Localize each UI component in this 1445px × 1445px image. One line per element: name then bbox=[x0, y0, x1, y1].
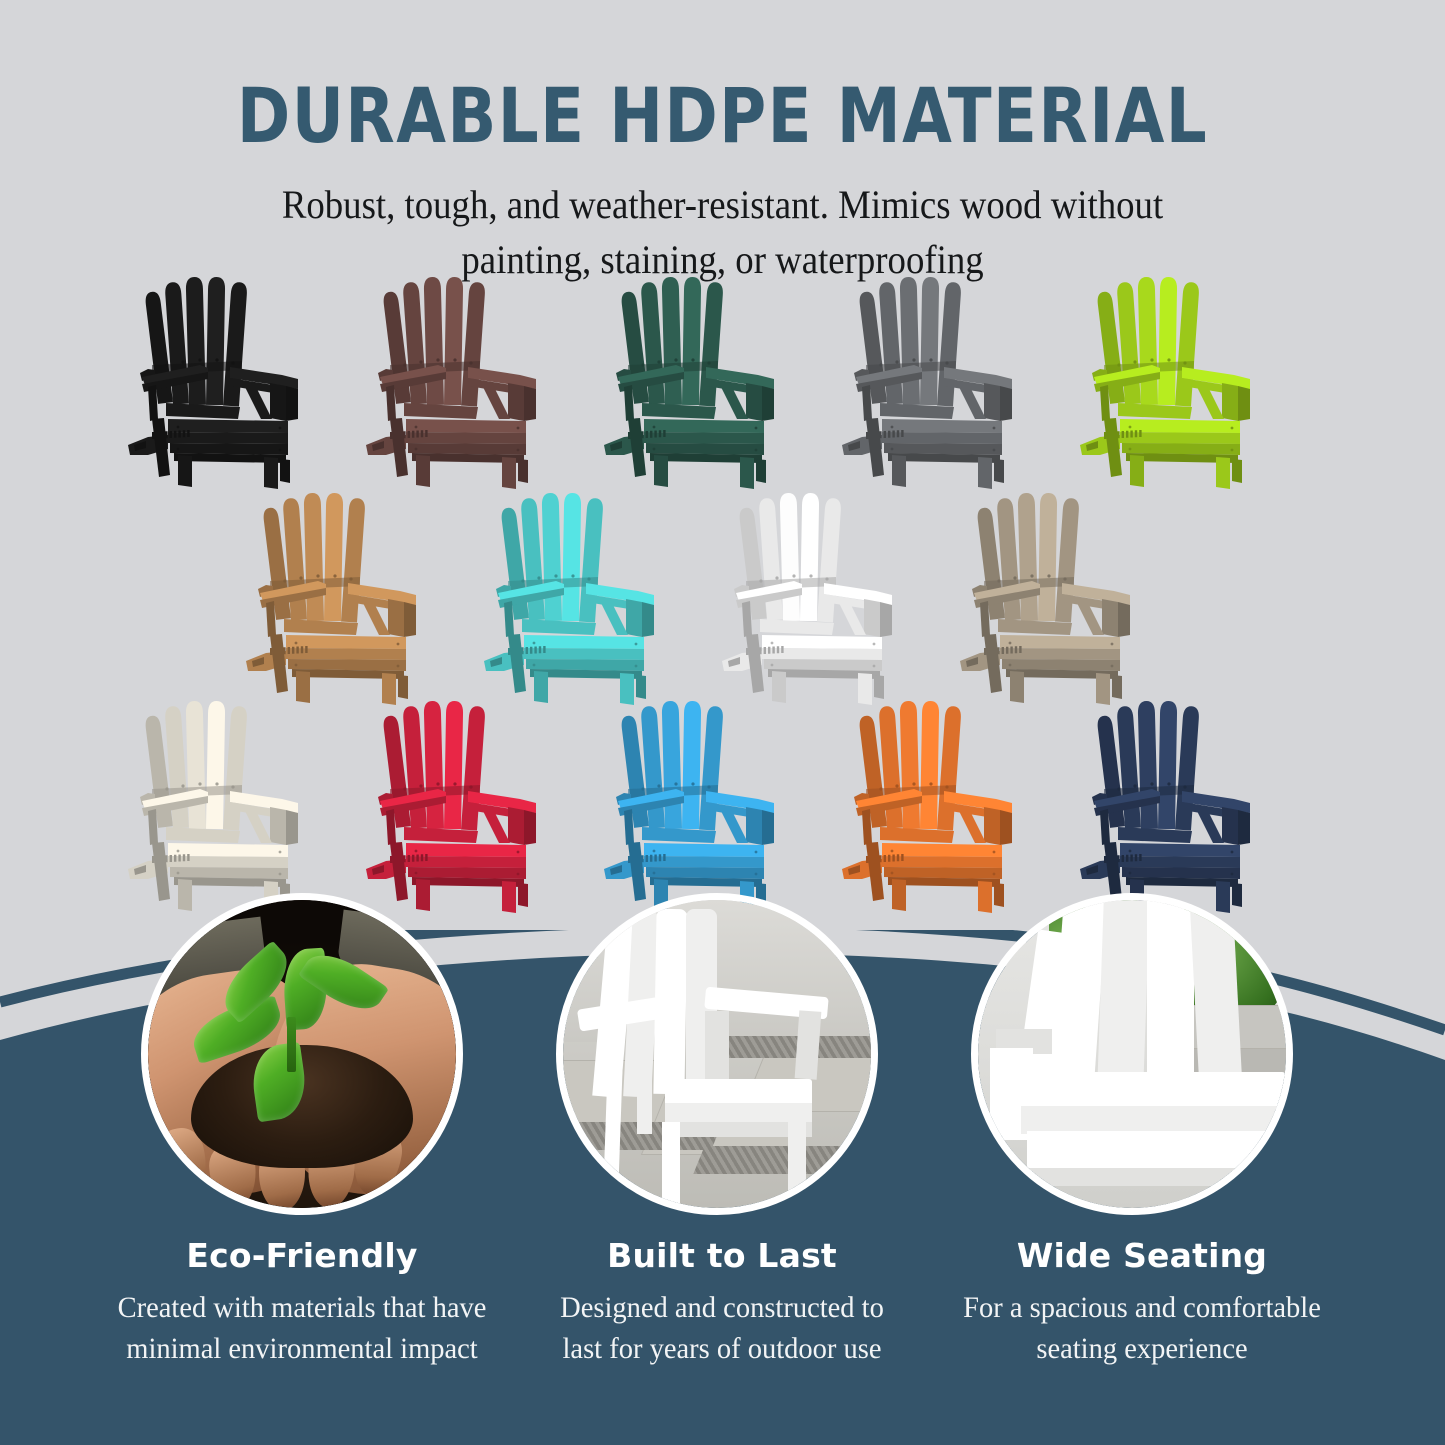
page-title: DURABLE HDPE MATERIAL bbox=[43, 0, 1401, 154]
chair-swatch-teak[interactable] bbox=[240, 484, 440, 706]
infographic-canvas: DURABLE HDPE MATERIAL Robust, tough, and… bbox=[0, 0, 1445, 1445]
feature-description-line-1: For a spacious and comfortable bbox=[886, 1275, 1399, 1327]
feature-heading: Wide Seating bbox=[872, 1236, 1412, 1275]
feature-photo-wide-seating bbox=[971, 893, 1293, 1215]
chair-swatch-ivory[interactable] bbox=[122, 692, 322, 914]
feature-description-line-2: seating experience bbox=[886, 1327, 1399, 1368]
chair-swatch-gray[interactable] bbox=[836, 268, 1036, 490]
feature-photo-eco-friendly bbox=[141, 893, 463, 1215]
chair-swatch-light-blue[interactable] bbox=[598, 692, 798, 914]
chair-swatch-navy-blue[interactable] bbox=[1074, 692, 1274, 914]
chair-swatch-weathered-wood[interactable] bbox=[954, 484, 1154, 706]
chair-swatch-orange[interactable] bbox=[836, 692, 1036, 914]
chair-swatch-black[interactable] bbox=[122, 268, 322, 490]
chair-color-grid bbox=[0, 268, 1445, 928]
chair-swatch-brown[interactable] bbox=[360, 268, 560, 490]
chair-swatch-white[interactable] bbox=[716, 484, 916, 706]
feature-block-wide-seating: Wide Seating For a spacious and comforta… bbox=[872, 1236, 1412, 1369]
chair-swatch-dark-green[interactable] bbox=[598, 268, 798, 490]
subtitle-line-1: Robust, tough, and weather-resistant. Mi… bbox=[58, 154, 1387, 231]
chair-swatch-lime-green[interactable] bbox=[1074, 268, 1274, 490]
chair-swatch-turquoise[interactable] bbox=[478, 484, 678, 706]
header-block: DURABLE HDPE MATERIAL Robust, tough, and… bbox=[0, 0, 1445, 286]
feature-photo-built-to-last bbox=[556, 893, 878, 1215]
chair-swatch-red[interactable] bbox=[360, 692, 560, 914]
